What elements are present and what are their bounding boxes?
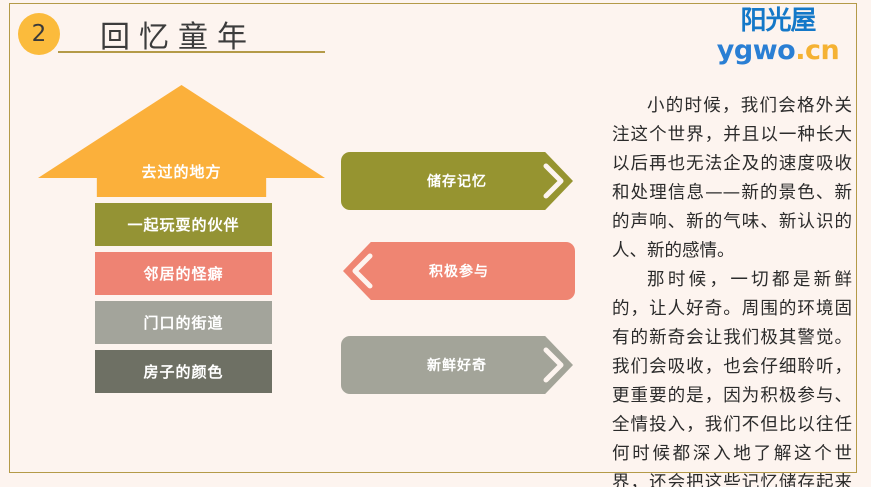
upward-arrow-diagram: 去过的地方 一起玩耍的伙伴 邻居的怪癖 门口的街道 房子的颜色 (0, 85, 340, 405)
stack-bar-label: 一起玩耍的伙伴 (127, 214, 239, 235)
body-text-column: 小的时候，我们会格外关注这个世界，并且以一种长大以后再也无法企及的速度吸收和处理… (612, 92, 852, 487)
stack-bar-label: 邻居的怪癖 (143, 263, 223, 284)
chevron-banner: 新鲜好奇 (341, 336, 573, 394)
chevron-banner: 积极参与 (343, 242, 575, 300)
chevron-banner-label: 储存记忆 (427, 171, 487, 191)
chevron-right-icon (541, 161, 567, 201)
chevron-banner-label: 新鲜好奇 (427, 355, 487, 375)
body-paragraph: 那时候，一切都是新鲜的，让人好奇。周围的环境固有的新奇会让我们极其警觉。我们会吸… (612, 266, 852, 487)
logo-mark-text: 阳光屋 (740, 6, 815, 36)
stack-bar: 邻居的怪癖 (95, 252, 272, 295)
stack-bar-label: 房子的颜色 (143, 361, 223, 382)
stack-bar: 房子的颜色 (95, 350, 272, 393)
slide-number-badge: 2 (18, 13, 60, 55)
page-title: 回忆童年 (100, 12, 256, 56)
body-paragraph: 小的时候，我们会格外关注这个世界，并且以一种长大以后再也无法企及的速度吸收和处理… (612, 92, 852, 266)
logo-domain-tld: .cn (795, 35, 839, 66)
stack-bar: 一起玩耍的伙伴 (95, 203, 272, 246)
stack-bar-label: 门口的街道 (143, 312, 223, 333)
title-underline (58, 51, 325, 53)
chevron-banner: 储存记忆 (341, 152, 573, 210)
chevron-banner-label: 积极参与 (429, 261, 489, 281)
logo-domain-name: ygwo (717, 35, 795, 66)
slide-canvas: 2 回忆童年 阳光屋 ygwo.cn 去过的地方 一起玩耍的伙伴 邻居的怪癖 门… (0, 0, 871, 487)
chevron-right-icon (541, 345, 567, 385)
logo-domain: ygwo.cn (703, 36, 853, 66)
stack-bar: 门口的街道 (95, 301, 272, 344)
arrow-head-label: 去过的地方 (38, 161, 325, 182)
site-logo[interactable]: 阳光屋 ygwo.cn (703, 6, 853, 68)
chevron-left-icon (349, 251, 375, 291)
logo-chinese-mark: 阳光屋 (703, 6, 853, 36)
